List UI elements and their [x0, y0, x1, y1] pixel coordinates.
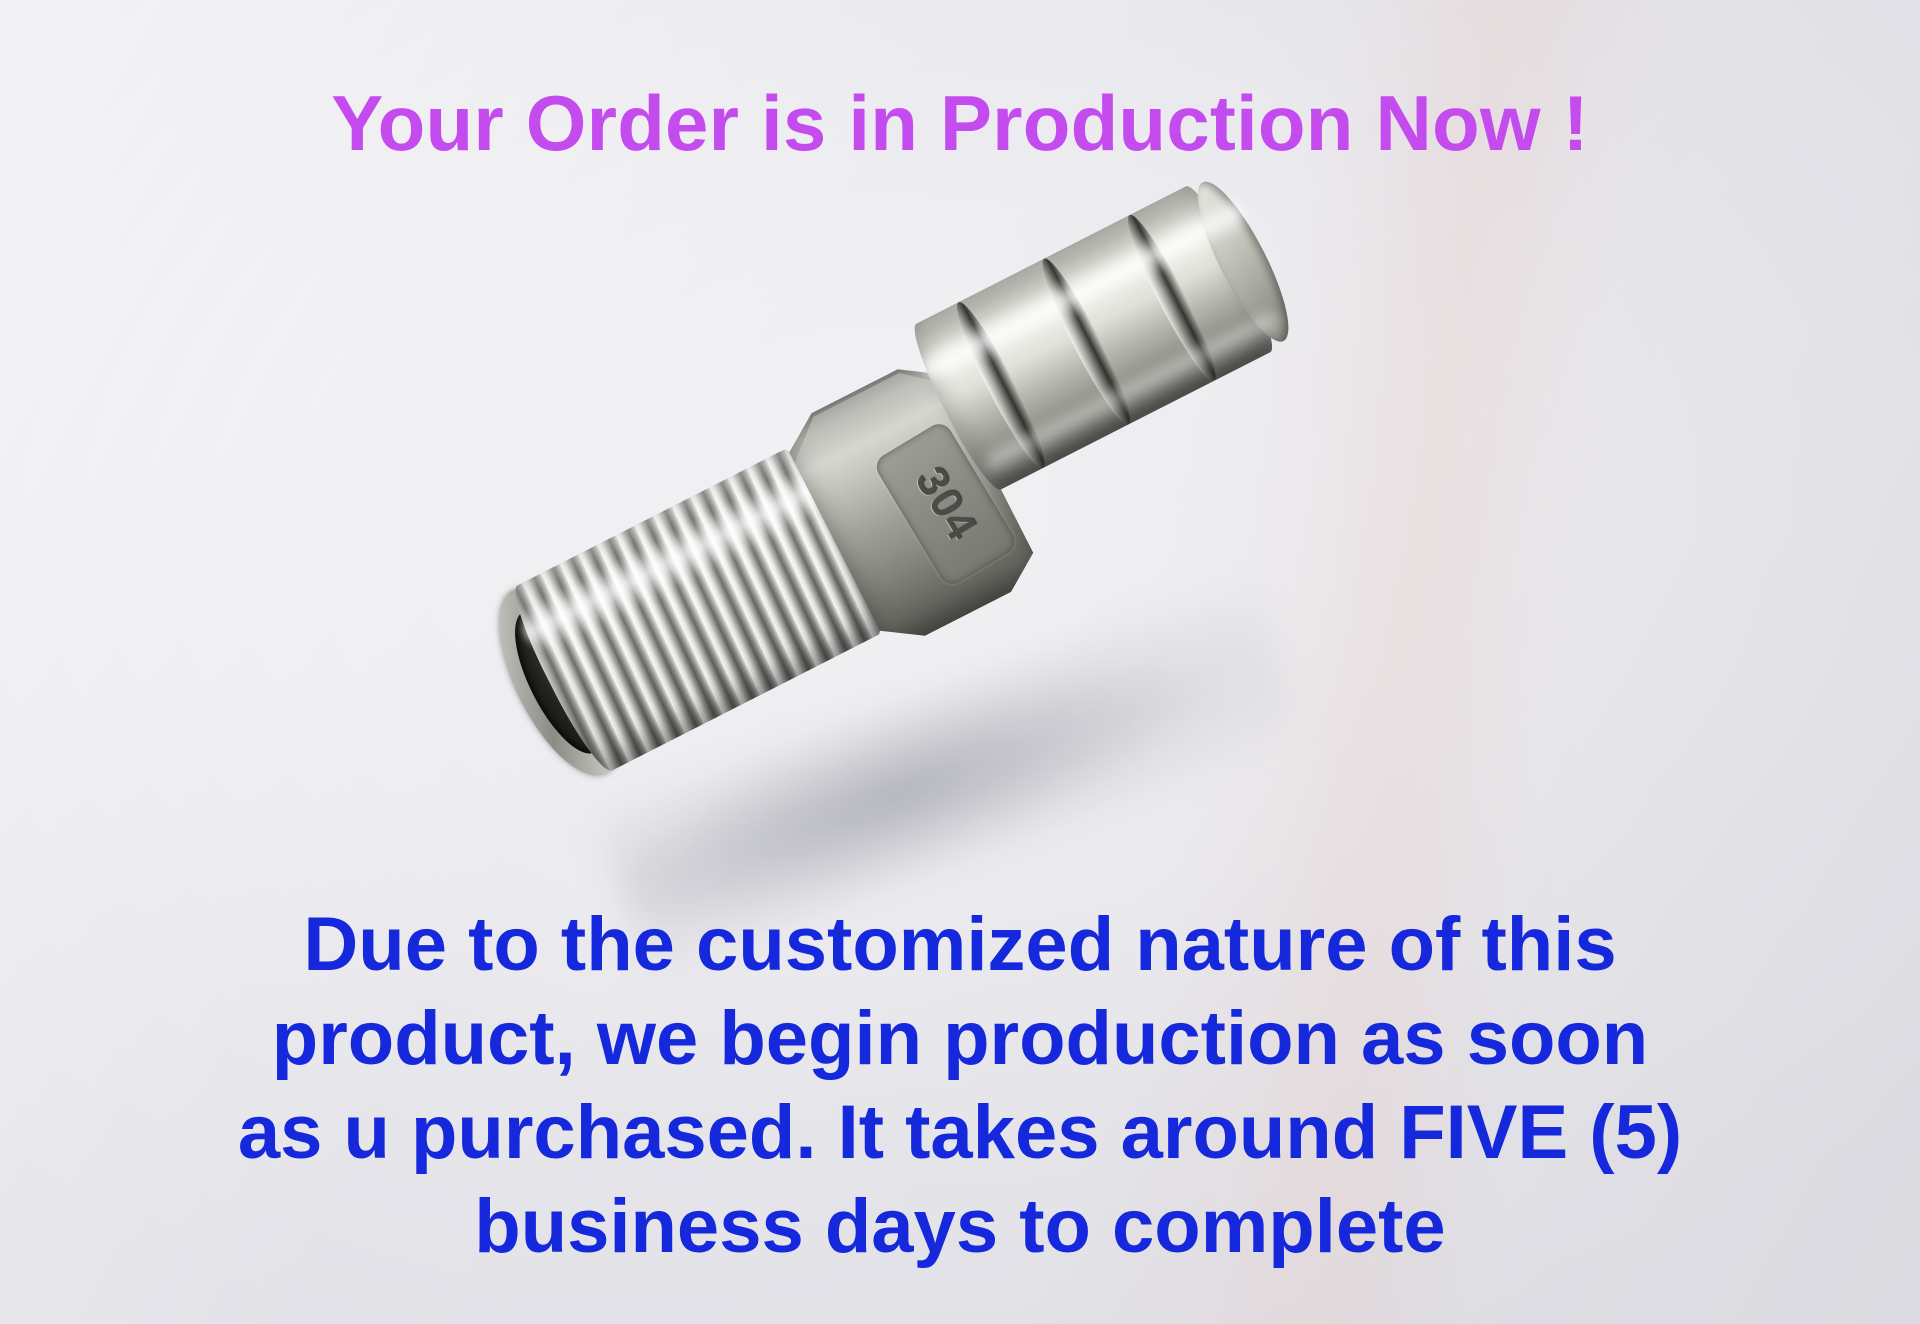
message-line-2: product, we begin production as soon	[0, 992, 1920, 1086]
message-line-1: Due to the customized nature of this	[0, 898, 1920, 992]
production-notice-banner: Your Order is in Production Now ! 304 Du…	[0, 0, 1920, 1324]
message-line-3: as u purchased. It takes around FIVE (5)	[0, 1086, 1920, 1180]
message-line-4: business days to complete	[0, 1180, 1920, 1274]
page-title: Your Order is in Production Now !	[0, 84, 1920, 162]
grade-stamp-text: 304	[905, 458, 987, 549]
production-message: Due to the customized nature of this pro…	[0, 898, 1920, 1274]
